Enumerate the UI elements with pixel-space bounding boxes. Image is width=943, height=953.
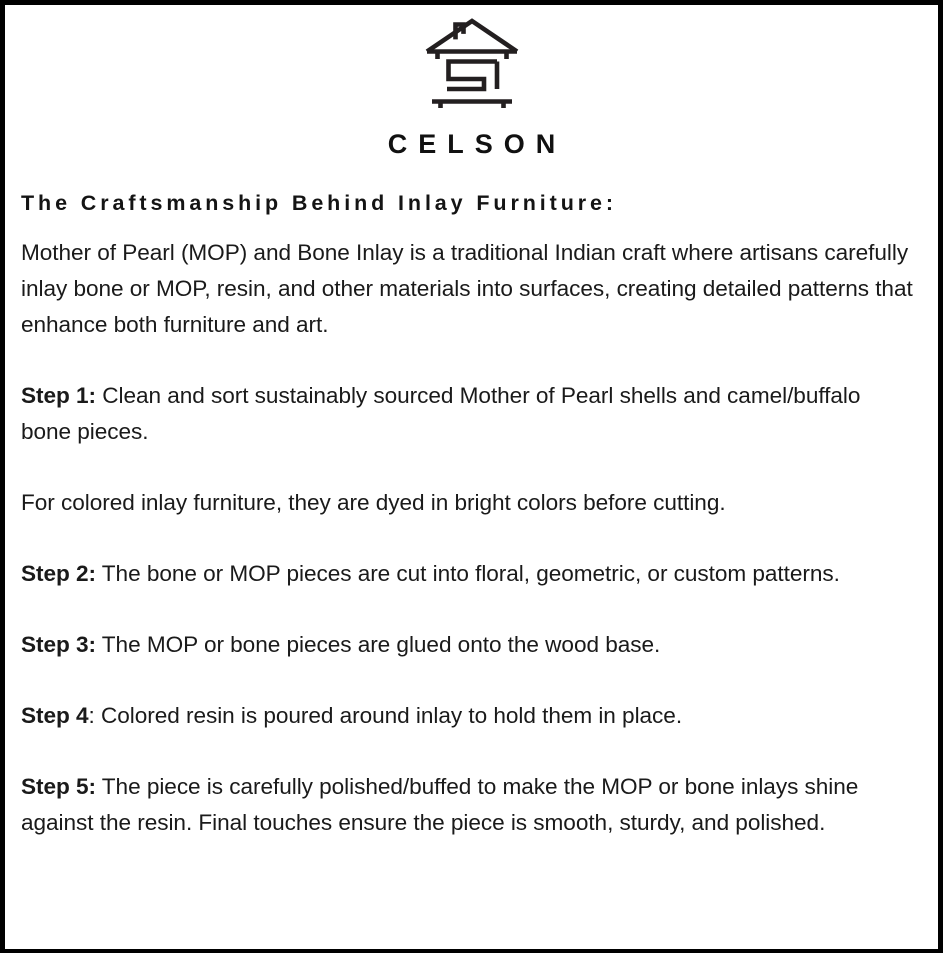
body-copy: Mother of Pearl (MOP) and Bone Inlay is … <box>21 217 927 841</box>
paragraph-step-4: Step 4: Colored resin is poured around i… <box>21 698 916 734</box>
paragraph-text: For colored inlay furniture, they are dy… <box>21 490 726 515</box>
paragraph-text: The piece is carefully polished/buffed t… <box>21 774 858 835</box>
step-label: Step 5: <box>21 774 96 799</box>
step-label: Step 1: <box>21 383 96 408</box>
paragraph-text: The MOP or bone pieces are glued onto th… <box>96 632 660 657</box>
paragraph-step-2: Step 2: The bone or MOP pieces are cut i… <box>21 556 916 592</box>
poster-content: CELSON The Craftsmanship Behind Inlay Fu… <box>5 5 938 949</box>
paragraph-step-1: Step 1: Clean and sort sustainably sourc… <box>21 378 916 450</box>
paragraph-text: Mother of Pearl (MOP) and Bone Inlay is … <box>21 240 913 337</box>
house-monogram-logo-icon <box>423 17 521 117</box>
step-label: Step 3: <box>21 632 96 657</box>
paragraph-step-3: Step 3: The MOP or bone pieces are glued… <box>21 627 916 663</box>
paragraph-text: Clean and sort sustainably sourced Mothe… <box>21 383 860 444</box>
paragraph-coloring-note: For colored inlay furniture, they are dy… <box>21 485 916 521</box>
brand-header: CELSON <box>16 15 927 158</box>
poster-frame: CELSON The Craftsmanship Behind Inlay Fu… <box>0 0 943 953</box>
paragraph-text: Colored resin is poured around inlay to … <box>95 703 682 728</box>
paragraph-text: The bone or MOP pieces are cut into flor… <box>96 561 840 586</box>
step-label: Step 4 <box>21 703 89 728</box>
paragraph-step-5: Step 5: The piece is carefully polished/… <box>21 769 916 841</box>
wordmark: CELSON <box>16 131 927 158</box>
step-label: Step 2: <box>21 561 96 586</box>
paragraph-intro: Mother of Pearl (MOP) and Bone Inlay is … <box>21 235 916 343</box>
page-title: The Craftsmanship Behind Inlay Furniture… <box>21 191 927 217</box>
